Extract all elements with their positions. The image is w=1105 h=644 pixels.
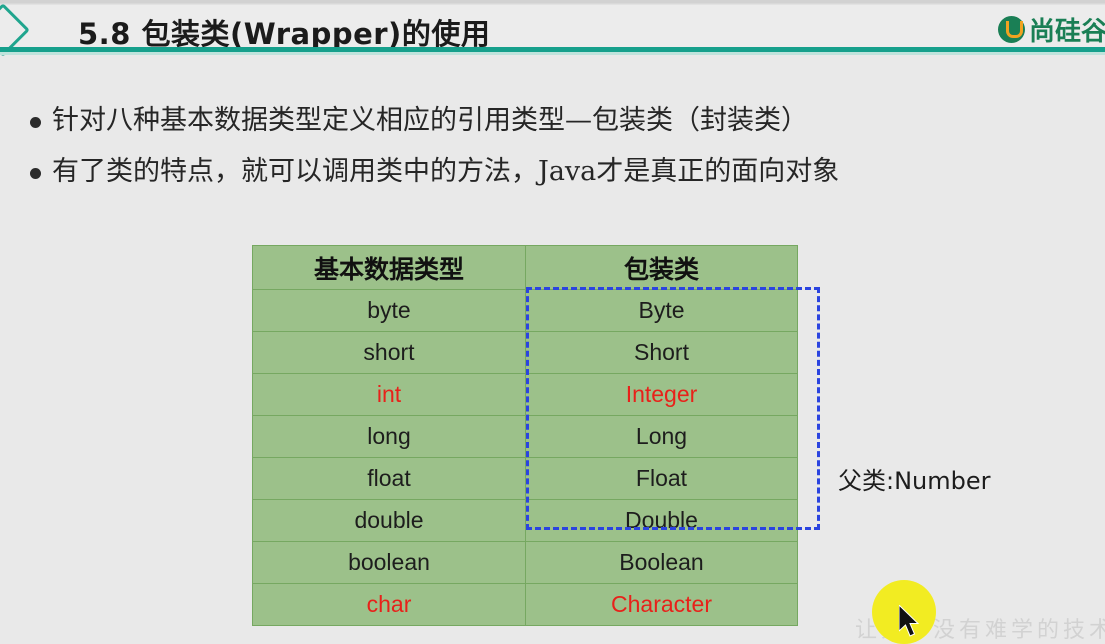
cell-primitive: double	[253, 500, 526, 542]
cell-primitive: short	[253, 332, 526, 374]
atguigu-u-logo-icon	[998, 16, 1025, 43]
column-header-primitive: 基本数据类型	[253, 246, 526, 290]
table-row: int Integer	[253, 374, 798, 416]
table-row: boolean Boolean	[253, 542, 798, 584]
superclass-annotation: 父类:Number	[838, 461, 991, 496]
cell-primitive: float	[253, 458, 526, 500]
table-row: float Float	[253, 458, 798, 500]
cell-primitive: char	[253, 584, 526, 626]
list-item: 有了类的特点，就可以调用类中的方法，Java才是真正的面向对象	[30, 155, 1070, 190]
cell-wrapper: Double	[526, 500, 798, 542]
bullet-dot-icon	[30, 117, 41, 128]
cell-wrapper: Character	[526, 584, 798, 626]
bullet-text: 有了类的特点，就可以调用类中的方法，Java才是真正的面向对象	[52, 155, 839, 190]
cell-primitive: int	[253, 374, 526, 416]
slide-header-bar: 5.8 包装类(Wrapper)的使用 尚硅谷	[0, 5, 1105, 48]
cell-wrapper: Byte	[526, 290, 798, 332]
wrapper-class-table: 基本数据类型 包装类 byte Byte short Short int Int…	[252, 245, 798, 626]
cell-wrapper: Integer	[526, 374, 798, 416]
header-divider-rule-light	[0, 52, 1105, 55]
table-row: double Double	[253, 500, 798, 542]
table-row: char Character	[253, 584, 798, 626]
list-item: 针对八种基本数据类型定义相应的引用类型—包装类（封装类）	[30, 104, 1070, 139]
table-row: byte Byte	[253, 290, 798, 332]
bullet-dot-icon	[30, 168, 41, 179]
cell-wrapper: Boolean	[526, 542, 798, 584]
bullet-text: 针对八种基本数据类型定义相应的引用类型—包装类（封装类）	[52, 104, 808, 139]
cell-wrapper: Short	[526, 332, 798, 374]
table-row: short Short	[253, 332, 798, 374]
cell-primitive: byte	[253, 290, 526, 332]
cell-wrapper: Long	[526, 416, 798, 458]
cell-wrapper: Float	[526, 458, 798, 500]
table-header-row: 基本数据类型 包装类	[253, 246, 798, 290]
table-row: long Long	[253, 416, 798, 458]
brand-logo: 尚硅谷	[998, 14, 1105, 44]
cell-primitive: boolean	[253, 542, 526, 584]
mouse-pointer-icon	[899, 605, 921, 639]
column-header-wrapper: 包装类	[526, 246, 798, 290]
bullet-list: 针对八种基本数据类型定义相应的引用类型—包装类（封装类） 有了类的特点，就可以调…	[30, 104, 1070, 205]
brand-name: 尚硅谷	[1029, 11, 1105, 48]
cell-primitive: long	[253, 416, 526, 458]
